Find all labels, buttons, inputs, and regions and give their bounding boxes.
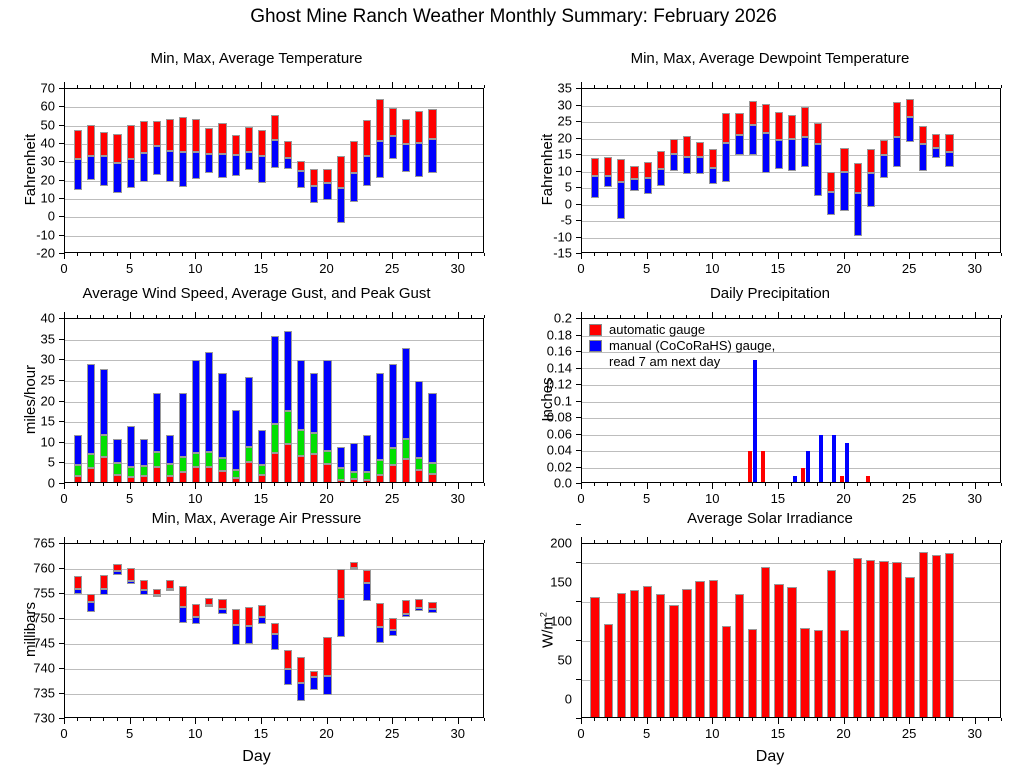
x-tick-mark-top [673, 540, 674, 543]
bar-solar-irradiance [761, 567, 770, 718]
bar-min-segment [232, 625, 240, 645]
bar-automatic-gauge [801, 468, 805, 484]
x-tick-mark [130, 483, 131, 489]
bar-min-segment [113, 163, 121, 194]
x-tick-mark-top [300, 85, 301, 88]
x-tick-mark [169, 253, 170, 256]
x-tick-mark [791, 253, 792, 256]
x-tick-mark-top [248, 540, 249, 543]
bar-max-segment [735, 113, 743, 135]
bar-min-segment [284, 669, 292, 686]
x-tick-mark [607, 718, 608, 721]
chart-title-pressure: Min, Max, Average Air Pressure [0, 510, 513, 527]
x-tick-mark-top [405, 315, 406, 318]
x-tick-mark-top [922, 540, 923, 543]
y-tick-mark [59, 161, 64, 162]
y-tick-mark [576, 237, 581, 238]
legend-entry: manual (CoCoRaHS) gauge, [589, 338, 700, 354]
bar-min-segment [337, 599, 345, 638]
x-tick-mark-top [432, 85, 433, 88]
bar-max-segment [100, 575, 108, 589]
x-tick-mark [778, 253, 779, 259]
y-tick-mark [59, 543, 64, 544]
x-tick-mark [844, 483, 845, 489]
x-tick-mark-top [725, 85, 726, 88]
x-tick-mark-top [208, 540, 209, 543]
x-tick-mark [594, 483, 595, 486]
x-tick-mark-top [607, 315, 608, 318]
y-tick-mark [576, 601, 581, 602]
bar-avg-gust-segment [87, 454, 95, 468]
x-tick-mark [432, 253, 433, 256]
bar-min-segment [153, 595, 161, 598]
y-tick-mark [576, 679, 581, 680]
bar-max-segment [389, 618, 397, 630]
bar-min-segment [100, 156, 108, 186]
x-tick-mark-top [156, 540, 157, 543]
bar-solar-irradiance [853, 558, 862, 718]
x-tick-mark [274, 718, 275, 721]
bar-min-segment [415, 143, 423, 177]
bar-avg-wind-segment [113, 475, 121, 484]
x-tick-mark-top [844, 82, 845, 88]
x-tick-mark [909, 253, 910, 259]
bar-min-segment [402, 614, 410, 618]
x-tick-mark [353, 253, 354, 256]
bar-max-segment [127, 125, 135, 159]
x-tick-mark [844, 253, 845, 259]
x-tick-mark-top [77, 315, 78, 318]
x-tick-mark-top [327, 312, 328, 318]
x-tick-label: 25 [385, 726, 399, 741]
x-tick-mark [791, 483, 792, 486]
bar-max-segment [867, 149, 875, 173]
bar-avg-gust-segment [100, 435, 108, 457]
y-axis-label-pressure: millibars [22, 522, 39, 737]
bar-avg-gust-segment [218, 458, 226, 470]
bar-min-segment [192, 152, 200, 179]
x-tick-mark [988, 483, 989, 486]
x-tick-mark-top [909, 537, 910, 543]
bar-max-segment [297, 161, 305, 171]
x-tick-mark [274, 483, 275, 486]
bar-max-segment [258, 130, 266, 157]
bar-solar-irradiance [617, 593, 626, 718]
x-tick-mark-top [287, 315, 288, 318]
x-tick-mark [909, 718, 910, 724]
bar-peak-gust-segment [179, 393, 187, 457]
x-tick-mark-top [484, 85, 485, 88]
bar-min-segment [775, 140, 783, 168]
bar-max-segment [402, 119, 410, 144]
x-tick-mark-top [182, 85, 183, 88]
x-tick-mark [765, 253, 766, 256]
bar-min-segment [880, 155, 888, 178]
x-tick-mark-top [195, 312, 196, 318]
x-tick-mark-top [949, 315, 950, 318]
x-tick-mark [195, 718, 196, 724]
x-tick-mark-top [804, 315, 805, 318]
bar-min-segment [323, 183, 331, 200]
bar-max-segment [893, 102, 901, 137]
bar-min-segment [100, 589, 108, 596]
x-tick-mark [817, 483, 818, 486]
bar-solar-irradiance [827, 570, 836, 718]
bar-min-segment [166, 151, 174, 181]
x-tick-mark-top [962, 540, 963, 543]
x-tick-mark-top [607, 540, 608, 543]
x-tick-mark-top [313, 315, 314, 318]
x-tick-mark [660, 718, 661, 721]
x-tick-mark-top [458, 312, 459, 318]
gridline [582, 221, 1000, 222]
x-tick-mark-top [117, 315, 118, 318]
x-tick-mark-top [909, 82, 910, 88]
x-tick-mark-top [778, 537, 779, 543]
y-tick-mark [576, 154, 581, 155]
bar-max-segment [932, 134, 940, 148]
x-tick-mark [64, 253, 65, 259]
x-tick-mark [712, 483, 713, 489]
y-tick-mark [576, 138, 581, 139]
x-tick-mark [909, 483, 910, 489]
x-tick-mark [418, 253, 419, 256]
y-tick-mark [576, 524, 581, 525]
x-tick-mark [647, 718, 648, 724]
bar-solar-irradiance [905, 577, 914, 718]
x-tick-mark-top [712, 312, 713, 318]
x-tick-mark-top [699, 315, 700, 318]
x-tick-mark [975, 718, 976, 724]
x-tick-mark [922, 718, 923, 721]
bar-max-segment [284, 650, 292, 669]
x-axis-label-solar: Day [513, 748, 1027, 766]
bar-min-segment [179, 152, 187, 187]
chart-panel-solar: Average Solar Irradiance 200150100500051… [513, 510, 1027, 772]
x-tick-mark [169, 718, 170, 721]
bar-peak-gust-segment [363, 435, 371, 473]
x-tick-label: 10 [188, 491, 202, 506]
x-tick-mark [379, 253, 380, 256]
x-tick-label: 0 [577, 491, 584, 506]
bar-max-segment [258, 605, 266, 617]
bar-max-segment [205, 128, 213, 154]
bar-peak-gust-segment [402, 348, 410, 439]
bar-max-segment [218, 599, 226, 609]
bar-peak-gust-segment [297, 360, 305, 430]
bar-max-segment [415, 599, 423, 609]
bar-min-segment [218, 154, 226, 178]
x-tick-mark-top [752, 540, 753, 543]
x-tick-mark-top [699, 85, 700, 88]
y-tick-mark [576, 450, 581, 451]
x-tick-mark-top [156, 85, 157, 88]
bar-max-segment [644, 162, 652, 178]
page-title: Ghost Mine Ranch Weather Monthly Summary… [0, 6, 1027, 28]
x-tick-mark-top [235, 315, 236, 318]
x-tick-mark-top [261, 537, 262, 543]
x-tick-label: 10 [705, 491, 719, 506]
x-tick-label: 10 [705, 726, 719, 741]
x-tick-mark-top [647, 537, 648, 543]
x-tick-mark [117, 718, 118, 721]
x-tick-label: 5 [126, 261, 133, 276]
bar-max-segment [232, 609, 240, 625]
x-tick-mark-top [922, 85, 923, 88]
y-tick-mark [59, 125, 64, 126]
bar-max-segment [749, 101, 757, 125]
bar-avg-wind-segment [218, 471, 226, 483]
bar-max-segment [192, 119, 200, 152]
bar-avg-wind-segment [74, 476, 82, 483]
chart-title-dewpoint: Min, Max, Average Dewpoint Temperature [513, 50, 1027, 67]
x-tick-mark-top [949, 85, 950, 88]
x-tick-mark [405, 253, 406, 256]
x-tick-label: 20 [836, 491, 850, 506]
x-tick-mark [235, 718, 236, 721]
x-tick-mark-top [432, 540, 433, 543]
bar-max-segment [232, 135, 240, 155]
x-tick-mark [366, 718, 367, 721]
x-tick-mark [870, 483, 871, 486]
chart-panel-pressure: Min, Max, Average Air Pressure 765760755… [0, 510, 513, 772]
x-tick-mark-top [778, 82, 779, 88]
x-tick-mark-top [620, 540, 621, 543]
x-tick-label: 0 [60, 491, 67, 506]
bar-min-segment [389, 136, 397, 160]
x-tick-mark-top [169, 85, 170, 88]
bar-manual-gauge [806, 451, 810, 483]
bar-min-segment [179, 607, 187, 623]
x-tick-mark [620, 718, 621, 721]
x-tick-label: 20 [319, 261, 333, 276]
x-tick-mark [327, 718, 328, 724]
x-tick-mark-top [195, 537, 196, 543]
bar-solar-irradiance [774, 584, 783, 718]
x-tick-mark-top [804, 85, 805, 88]
y-tick-mark [576, 105, 581, 106]
x-tick-mark-top [883, 85, 884, 88]
x-tick-mark-top [752, 85, 753, 88]
x-tick-mark [607, 253, 608, 256]
bar-max-segment [604, 157, 612, 175]
bar-peak-gust-segment [376, 373, 384, 460]
x-tick-mark [235, 253, 236, 256]
x-tick-mark-top [274, 540, 275, 543]
bar-min-segment [74, 159, 82, 190]
x-tick-label: 5 [643, 726, 650, 741]
x-tick-mark [607, 483, 608, 486]
x-tick-mark [857, 718, 858, 721]
x-tick-mark-top [366, 540, 367, 543]
x-tick-mark-top [77, 540, 78, 543]
x-tick-mark [883, 483, 884, 486]
x-tick-label: 0 [60, 726, 67, 741]
bar-min-segment [127, 581, 135, 584]
x-tick-mark [156, 253, 157, 256]
bar-min-segment [310, 677, 318, 690]
y-tick-mark [59, 359, 64, 360]
x-tick-mark-top [988, 85, 989, 88]
bar-automatic-gauge [761, 451, 765, 483]
x-tick-label: 5 [643, 491, 650, 506]
legend-swatch-icon [589, 340, 602, 352]
x-tick-mark [660, 253, 661, 256]
bar-max-segment [376, 603, 384, 627]
bar-min-segment [297, 683, 305, 701]
x-tick-mark [90, 718, 91, 721]
bar-peak-gust-segment [389, 364, 397, 447]
bar-avg-gust-segment [271, 424, 279, 453]
bar-max-segment [775, 112, 783, 141]
x-tick-label: 0 [577, 726, 584, 741]
x-tick-mark-top [156, 315, 157, 318]
x-tick-mark-top [791, 85, 792, 88]
x-tick-mark [366, 483, 367, 486]
bar-solar-irradiance [695, 581, 704, 718]
x-tick-mark [235, 483, 236, 486]
x-tick-mark [208, 253, 209, 256]
x-tick-mark [975, 253, 976, 259]
gridline [582, 468, 1000, 469]
bar-max-segment [245, 607, 253, 626]
x-tick-mark [975, 483, 976, 489]
chart-title-precipitation: Daily Precipitation [513, 285, 1027, 302]
bar-min-segment [284, 158, 292, 169]
bar-avg-gust-segment [113, 463, 121, 475]
bar-solar-irradiance [722, 626, 731, 718]
bar-max-segment [297, 657, 305, 684]
bar-avg-gust-segment [415, 458, 423, 470]
x-tick-mark-top [445, 85, 446, 88]
x-tick-mark [143, 253, 144, 256]
y-tick-mark [576, 220, 581, 221]
x-tick-mark-top [1001, 85, 1002, 88]
x-tick-mark [182, 483, 183, 486]
bar-peak-gust-segment [284, 331, 292, 410]
x-tick-mark [686, 718, 687, 721]
bar-max-segment [179, 117, 187, 151]
bar-min-segment [617, 182, 625, 220]
bar-avg-wind-segment [428, 474, 436, 483]
x-tick-label: 15 [771, 726, 785, 741]
bar-max-segment [179, 586, 187, 607]
x-tick-label: 10 [188, 726, 202, 741]
x-tick-mark [471, 718, 472, 721]
x-tick-mark-top [182, 315, 183, 318]
bar-peak-gust-segment [140, 439, 148, 467]
x-tick-mark-top [418, 540, 419, 543]
x-tick-mark [830, 253, 831, 256]
bar-avg-wind-segment [205, 467, 213, 483]
x-tick-mark [725, 483, 726, 486]
x-tick-mark [883, 718, 884, 721]
x-tick-mark [222, 483, 223, 486]
x-tick-mark-top [64, 537, 65, 543]
bar-peak-gust-segment [113, 439, 121, 463]
x-tick-mark-top [830, 315, 831, 318]
bar-avg-wind-segment [323, 464, 331, 483]
bar-automatic-gauge [866, 476, 870, 483]
bar-avg-gust-segment [166, 464, 174, 476]
x-tick-mark [445, 718, 446, 721]
y-tick-mark [576, 640, 581, 641]
bar-min-segment [87, 602, 95, 612]
bar-automatic-gauge [840, 476, 844, 483]
bar-max-segment [630, 166, 638, 179]
x-tick-mark [77, 253, 78, 256]
x-tick-mark-top [392, 82, 393, 88]
x-tick-mark-top [77, 85, 78, 88]
y-axis-label-solar: W/m2 [538, 522, 556, 737]
x-tick-mark [778, 483, 779, 489]
x-tick-mark-top [208, 315, 209, 318]
x-tick-mark-top [300, 315, 301, 318]
x-tick-label: 30 [968, 261, 982, 276]
bar-peak-gust-segment [258, 430, 266, 465]
bar-peak-gust-segment [428, 393, 436, 463]
bar-solar-irradiance [682, 589, 691, 718]
y-tick-mark [576, 417, 581, 418]
bar-min-segment [376, 627, 384, 644]
x-tick-mark [130, 718, 131, 724]
x-tick-mark-top [699, 540, 700, 543]
x-tick-mark [712, 253, 713, 259]
x-tick-label: 30 [451, 491, 465, 506]
x-tick-mark [844, 718, 845, 724]
x-tick-mark-top [300, 540, 301, 543]
y-tick-mark [59, 235, 64, 236]
y-tick-mark [59, 568, 64, 569]
y-tick-mark [59, 88, 64, 89]
bar-peak-gust-segment [100, 369, 108, 435]
x-tick-label: 25 [902, 726, 916, 741]
bar-max-segment [801, 107, 809, 136]
x-axis-label-pressure: Day [0, 748, 513, 766]
bar-max-segment [113, 564, 121, 572]
bar-min-segment [683, 157, 691, 174]
x-tick-label: 30 [451, 261, 465, 276]
bar-avg-wind-segment [166, 476, 174, 483]
x-tick-mark [195, 483, 196, 489]
bar-min-segment [127, 159, 135, 188]
x-tick-mark [300, 253, 301, 256]
x-tick-mark-top [353, 85, 354, 88]
x-tick-mark-top [817, 85, 818, 88]
x-tick-mark-top [975, 537, 976, 543]
x-tick-mark-top [103, 85, 104, 88]
bar-peak-gust-segment [271, 336, 279, 424]
bar-min-segment [310, 186, 318, 202]
y-tick-mark [59, 106, 64, 107]
bar-max-segment [74, 130, 82, 160]
x-tick-mark [445, 253, 446, 256]
x-tick-mark [752, 253, 753, 256]
bar-min-segment [140, 590, 148, 595]
x-tick-mark [988, 718, 989, 721]
x-tick-mark-top [379, 85, 380, 88]
x-tick-mark [458, 253, 459, 259]
x-tick-mark [581, 718, 582, 724]
x-tick-mark [392, 253, 393, 259]
x-tick-mark-top [313, 540, 314, 543]
x-tick-mark-top [660, 85, 661, 88]
x-tick-mark-top [392, 312, 393, 318]
x-tick-mark [817, 253, 818, 256]
bar-max-segment [670, 139, 678, 154]
bar-min-segment [350, 173, 358, 202]
chart-panel-precipitation: Daily Precipitation 0.20.180.160.140.120… [513, 285, 1027, 510]
